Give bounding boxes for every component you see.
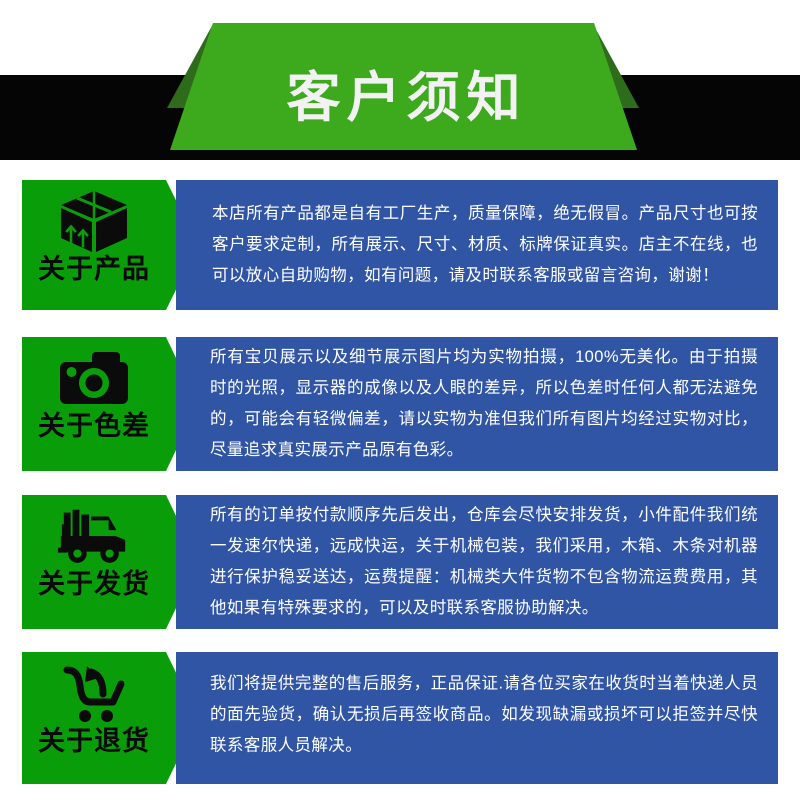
camera-icon — [56, 346, 132, 412]
notice-row-shipping: 关于发货 所有的订单按付款顺序先后发出，仓库会尽快安排发货，小件配件我们统一发速… — [0, 495, 800, 629]
notice-text: 我们将提供完整的售后服务，正品保证.请各位买家在收货时当着快递人员的面先验货，确… — [210, 669, 758, 762]
notice-panel-return: 我们将提供完整的售后服务，正品保证.请各位买家在收货时当着快递人员的面先验货，确… — [176, 652, 778, 784]
badge-label: 关于产品 — [38, 256, 150, 283]
badge-label: 关于发货 — [38, 571, 150, 598]
notice-text: 所有宝贝展示以及细节展示图片均为实物拍摄，100%无美化。由于拍摄时的光照，显示… — [210, 342, 758, 466]
notice-row-product: 关于产品 本店所有产品都是自有工厂生产，质量保障，绝无假冒。产品尺寸也可按客户要… — [0, 180, 800, 310]
package-box-icon — [56, 189, 132, 255]
notice-row-color: 关于色差 所有宝贝展示以及细节展示图片均为实物拍摄，100%无美化。由于拍摄时的… — [0, 337, 800, 471]
notice-panel-color: 所有宝贝展示以及细节展示图片均为实物拍摄，100%无美化。由于拍摄时的光照，显示… — [176, 337, 778, 471]
notice-panel-product: 本店所有产品都是自有工厂生产，质量保障，绝无假冒。产品尺寸也可按客户要求定制，所… — [176, 180, 778, 310]
page-title: 客户须知 — [281, 49, 527, 125]
notice-panel-shipping: 所有的订单按付款顺序先后发出，仓库会尽快安排发货，小件配件我们统一发速尔快递，远… — [176, 495, 778, 629]
notice-text: 本店所有产品都是自有工厂生产，质量保障，绝无假冒。产品尺寸也可按客户要求定制，所… — [212, 199, 758, 292]
forklift-truck-icon — [56, 504, 132, 570]
badge-label: 关于色差 — [38, 413, 150, 440]
notice-text: 所有的订单按付款顺序先后发出，仓库会尽快安排发货，小件配件我们统一发速尔快递，远… — [210, 500, 758, 624]
page-header: 客户须知 — [0, 0, 800, 162]
badge-return[interactable]: 关于退货 — [22, 652, 166, 784]
notice-row-return: 关于退货 我们将提供完整的售后服务，正品保证.请各位买家在收货时当着快递人员的面… — [0, 652, 800, 784]
badge-product[interactable]: 关于产品 — [22, 180, 166, 310]
badge-color[interactable]: 关于色差 — [22, 337, 166, 471]
badge-shipping[interactable]: 关于发货 — [22, 495, 166, 629]
return-cart-icon — [56, 661, 132, 727]
badge-label: 关于退货 — [38, 728, 150, 755]
ribbon-banner: 客户须知 — [170, 23, 637, 150]
